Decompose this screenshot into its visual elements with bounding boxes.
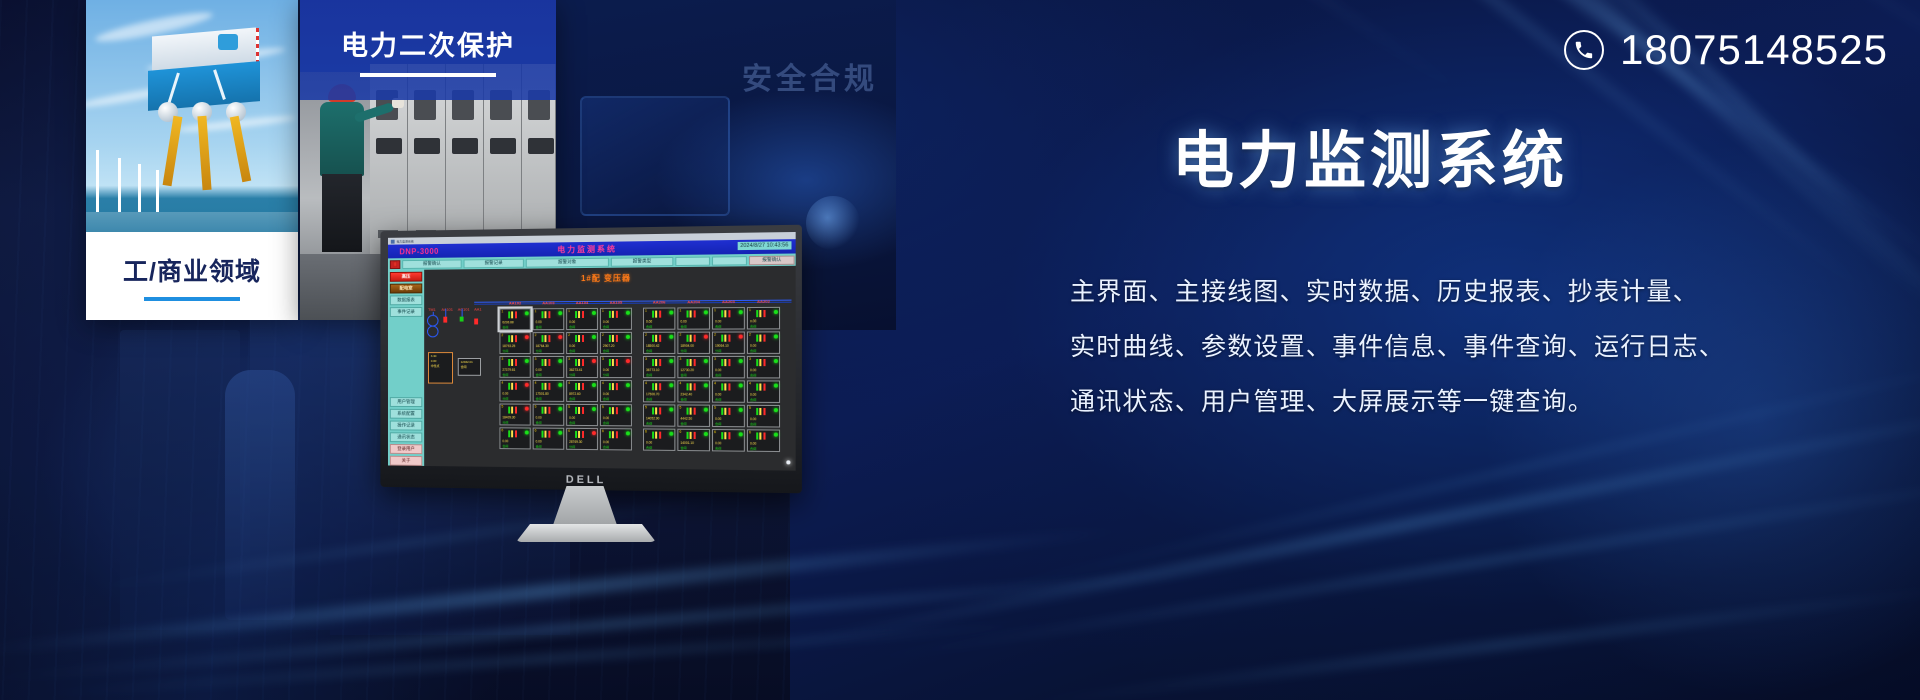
cell-index: 5 <box>679 405 681 409</box>
toolbar-item-1[interactable]: 报警记录 <box>464 258 524 268</box>
feeder-cell[interactable]: 30.00合闸 <box>533 356 565 378</box>
feeder-cell[interactable]: 20.00合闸 <box>566 332 598 354</box>
cell-index: 4 <box>535 381 537 385</box>
cell-phase-bars <box>687 408 696 415</box>
worker-figure <box>314 84 370 254</box>
cell-state-label: 合闸 <box>750 422 756 426</box>
cell-status-dot <box>773 383 777 387</box>
plate-lamp <box>806 196 860 250</box>
cell-index: 5 <box>749 406 751 410</box>
offshore-platform-structure <box>144 28 264 148</box>
feeder-cell[interactable]: 219064.10分闸 <box>712 332 745 354</box>
sub-panel-meter[interactable]: 6.30 0.00 中性点 <box>428 352 453 384</box>
feeder-cell-grid[interactable]: AA102 AA103 AA104 AA105 AA206 AA204 AA20… <box>499 307 794 471</box>
cell-value: 0.00 <box>536 440 542 444</box>
feeder-cell[interactable]: 218793.25分闸 <box>499 332 530 354</box>
feeder-cell[interactable]: 48972.60合闸 <box>566 380 598 402</box>
cell-state-label: 合闸 <box>536 420 542 424</box>
cell-index: 5 <box>535 405 537 409</box>
cell-status-dot <box>558 406 562 410</box>
cell-phase-bars <box>756 383 765 390</box>
feeder-cell[interactable]: 614001.10合闸 <box>677 429 710 452</box>
cell-phase-bars <box>721 408 730 415</box>
cell-state-label: 分闸 <box>502 420 508 424</box>
cell-phase-bars <box>542 407 551 414</box>
cell-index: 2 <box>645 333 647 337</box>
alarm-indicator-button[interactable] <box>390 260 400 269</box>
cell-row: 327379.61合闸30.00合闸336273.41分闸30.00分闸3367… <box>499 356 794 379</box>
cell-row: 40.00分闸417501.80合闸48972.60合闸40.00合闸41750… <box>499 380 794 403</box>
sidebar-item-about[interactable]: 关于 <box>390 456 422 466</box>
phone-contact[interactable]: 18075148525 <box>1564 26 1888 74</box>
feeder-cell[interactable]: 327379.61合闸 <box>499 356 530 378</box>
cell-status-dot <box>738 432 742 436</box>
cell-row: 16236.88合闸10.00合闸10.00合闸10.00合闸10.00合闸10… <box>499 307 794 331</box>
cell-state-label: 分闸 <box>502 396 508 400</box>
cell-state-label: 合闸 <box>680 445 686 449</box>
cell-status-dot <box>773 309 777 313</box>
cell-status-dot <box>558 311 562 315</box>
feeder-cell[interactable]: 40.00合闸 <box>747 380 780 403</box>
cell-phase-bars <box>687 432 696 439</box>
feeder-cell[interactable]: 628769.30分闸 <box>566 428 598 450</box>
feeder-cell[interactable]: 10.00合闸 <box>712 307 745 330</box>
cell-status-dot <box>669 431 673 435</box>
cell-index: 1 <box>568 309 570 313</box>
sidebar-item-login[interactable]: 登录用户 <box>390 444 422 454</box>
cell-value: 0.00 <box>750 442 756 446</box>
cell-status-dot <box>558 335 562 339</box>
cell-status-dot <box>591 431 595 435</box>
cell-state-label: 合闸 <box>680 324 686 328</box>
feeder-cell[interactable]: 10.00合闸 <box>600 308 632 330</box>
caption-secondary-protection: 电力二次保护 <box>300 0 556 100</box>
caption-label: 工/商业领域 <box>123 252 261 288</box>
cell-value: 0.00 <box>603 440 609 444</box>
right-content-column: 18075148525 电力监测系统 主界面、主接线图、实时数据、历史报表、抄表… <box>1060 0 1920 700</box>
cell-value: 0.00 <box>603 368 609 372</box>
cell-state-label: 分闸 <box>536 349 542 353</box>
feeder-cell[interactable]: 40.00合闸 <box>712 380 745 402</box>
cell-state-label: 合闸 <box>536 396 542 400</box>
cell-index: 1 <box>749 308 751 312</box>
feeder-cell[interactable]: 40.00分闸 <box>499 380 530 402</box>
cell-state-label: 合闸 <box>646 397 652 401</box>
cell-value: 6236.88 <box>502 320 513 324</box>
cell-value: 0.00 <box>502 392 508 396</box>
cell-column-headers: AA102 AA103 AA104 AA105 AA206 AA204 AA20… <box>499 299 780 306</box>
scada-diagram-area[interactable]: 1#配 变压器 TM1 AA101 AC101 AA1 <box>424 266 795 471</box>
cell-index: 4 <box>645 381 647 385</box>
description-line-3: 通讯状态、用户管理、大屏展示等一键查询。 <box>1070 375 1890 430</box>
cell-status-dot <box>558 430 562 434</box>
sidebar-item-comm[interactable]: 通讯状态 <box>390 432 422 442</box>
cell-phase-bars <box>652 311 661 318</box>
feeder-cell[interactable]: 336273.41分闸 <box>566 356 598 378</box>
cell-value: 18793.25 <box>502 344 515 348</box>
sidebar-item-reports[interactable]: 数据报表 <box>390 295 422 305</box>
cell-index: 4 <box>602 381 604 385</box>
cell-status-dot <box>591 358 595 362</box>
feeder-cell[interactable]: 218764.30分闸 <box>533 332 565 354</box>
cell-status-dot <box>591 310 595 314</box>
cell-value: 0.00 <box>715 319 721 323</box>
cell-index: 1 <box>714 308 716 312</box>
toolbar-spacer-b[interactable] <box>712 256 747 266</box>
cell-phase-bars <box>756 334 765 341</box>
cell-value: 18904.00 <box>680 344 694 348</box>
cell-phase-bars <box>687 359 696 366</box>
feeder-cell[interactable]: 60.00合闸 <box>643 428 675 450</box>
cell-status-dot <box>669 334 673 338</box>
cell-status-dot <box>773 334 777 338</box>
feeder-cell[interactable]: 30.00合闸 <box>747 356 780 378</box>
cell-state-label: 合闸 <box>502 372 508 376</box>
cell-status-dot <box>738 334 742 338</box>
feeder-cell[interactable]: 60.00合闸 <box>533 428 565 450</box>
cell-value: 8972.60 <box>569 392 580 396</box>
cell-state-label: 合闸 <box>536 372 542 376</box>
cell-status-dot <box>703 310 707 314</box>
cell-phase-bars <box>575 407 584 414</box>
cell-group-gap <box>634 380 641 402</box>
cell-value: 0.00 <box>750 417 756 421</box>
feeder-cell[interactable]: 42342.40合闸 <box>677 380 710 402</box>
cell-value: 0.00 <box>715 368 721 372</box>
cell-index: 3 <box>714 357 716 361</box>
scada-body: 高压 配电室 数据报表 事件记录 用户管理 系统配置 操作记录 通讯状态 登录用… <box>388 266 796 471</box>
cell-status-dot <box>524 406 528 410</box>
sidebar-item-users[interactable]: 用户管理 <box>390 397 422 407</box>
feeder-cell[interactable]: 218904.00分闸 <box>677 332 710 354</box>
cell-index: 6 <box>568 429 570 433</box>
cell-phase-bars <box>721 383 730 390</box>
sidebar-item-config[interactable]: 系统配置 <box>390 409 422 419</box>
sub-panel-label: 中性点 <box>431 364 450 368</box>
cell-state-label: 合闸 <box>569 396 575 400</box>
transformer-winding-d <box>427 326 439 338</box>
description-line-2: 实时曲线、参数设置、事件信息、事件查询、运行日志、 <box>1070 320 1890 375</box>
sidebar-item-oplog[interactable]: 操作记录 <box>390 421 422 431</box>
feeder-cell[interactable]: 10.00合闸 <box>533 308 565 330</box>
sidebar-item-substation[interactable]: 配电室 <box>390 283 422 293</box>
toolbar-item-2[interactable]: 报警对象 <box>526 257 609 267</box>
cell-value: 0.00 <box>750 344 756 348</box>
cell-phase-bars <box>508 407 517 414</box>
cell-status-dot <box>669 310 673 314</box>
scada-sidebar: 高压 配电室 数据报表 事件记录 用户管理 系统配置 操作记录 通讯状态 登录用… <box>388 270 424 466</box>
cell-row: 60.00合闸60.00合闸628769.30分闸60.00合闸60.00合闸6… <box>499 427 794 452</box>
cell-phase-bars <box>609 431 618 438</box>
feeder-cell[interactable]: 10.00合闸 <box>643 307 675 329</box>
cell-phase-bars <box>609 311 618 318</box>
hv-label-1: AA101 <box>441 307 453 312</box>
cell-state-label: 合闸 <box>715 373 721 377</box>
cell-state-label: 合闸 <box>603 324 609 328</box>
cell-phase-bars <box>508 335 517 342</box>
hv-label-3: AA1 <box>474 307 481 312</box>
cell-value: 0.00 <box>536 416 542 420</box>
cell-status-dot <box>558 382 562 386</box>
cell-status-dot <box>625 358 629 362</box>
monitor-bezel: 电力监测系统 DNP-3000 电力监测系统 2024/8/27 10:43:5… <box>380 225 802 494</box>
feeder-cell[interactable]: 60.00合闸 <box>712 429 745 452</box>
feeder-cell[interactable]: 336773.10合闸 <box>643 356 675 378</box>
cell-state-label: 合闸 <box>715 421 721 425</box>
cell-phase-bars <box>652 407 661 414</box>
cell-state-label: 合闸 <box>750 446 756 450</box>
cell-index: 5 <box>568 405 570 409</box>
cell-phase-bars <box>575 359 584 366</box>
cell-status-dot <box>524 382 528 386</box>
feeder-cell[interactable]: 16236.88合闸 <box>499 308 530 330</box>
feeder-cell[interactable]: 518409.30分闸 <box>499 404 530 426</box>
feeder-cell[interactable]: 417506.70合闸 <box>643 380 675 402</box>
cell-index: 3 <box>679 357 681 361</box>
cell-value: 14052.90 <box>646 416 659 420</box>
cell-state-label: 合闸 <box>603 445 609 449</box>
cell-row: 218793.25分闸218764.30分闸20.00合闸22907.20合闸2… <box>499 331 794 354</box>
hv-label-2: AC101 <box>458 307 470 312</box>
cell-value: 0.00 <box>750 368 756 372</box>
cell-status-dot <box>625 431 629 435</box>
feeder-cell[interactable]: 30.00分闸 <box>600 356 632 378</box>
cell-phase-bars <box>652 383 661 390</box>
cell-index: 6 <box>714 430 716 434</box>
sidebar-item-events[interactable]: 事件记录 <box>390 307 422 317</box>
cell-status-dot <box>703 383 707 387</box>
cell-value: 0.00 <box>646 441 652 445</box>
feeder-cell[interactable]: 417501.80合闸 <box>533 380 565 402</box>
cell-status-dot <box>738 407 742 411</box>
cell-status-dot <box>738 310 742 314</box>
bg-rack-2 <box>250 300 340 630</box>
cell-value: 36273.41 <box>569 368 582 372</box>
cell-phase-bars <box>721 310 730 317</box>
cell-value: 12730.20 <box>680 368 694 372</box>
cell-phase-bars <box>721 432 730 439</box>
cell-state-label: 合闸 <box>715 397 721 401</box>
plate-frame <box>580 96 730 216</box>
cell-phase-bars <box>756 359 765 366</box>
cell-status-dot <box>669 383 673 387</box>
feeder-cell[interactable]: 50.00合闸 <box>712 405 745 428</box>
cell-state-label: 合闸 <box>750 397 756 401</box>
cell-value: 18764.30 <box>536 344 549 348</box>
cell-status-dot <box>591 383 595 387</box>
cell-state-label: 合闸 <box>680 421 686 425</box>
cell-value: 2907.20 <box>603 344 615 348</box>
cell-state-label: 合闸 <box>536 444 542 448</box>
feeder-cell[interactable]: 50.00合闸 <box>600 404 632 426</box>
cell-index: 3 <box>568 357 570 361</box>
cell-index: 5 <box>645 405 647 409</box>
bg-person-silhouette <box>225 370 295 620</box>
cell-phase-bars <box>508 430 517 437</box>
feeder-cell[interactable]: 514052.90合闸 <box>643 404 675 426</box>
caption-industrial-commercial: 工/商业领域 <box>86 232 298 320</box>
caption-underline <box>144 297 240 301</box>
cell-group-gap <box>634 332 641 354</box>
cell-state-label: 合闸 <box>715 324 721 328</box>
cell-value: 0.00 <box>536 320 542 324</box>
cell-state-label: 合闸 <box>603 348 609 352</box>
monitor: 电力监测系统 DNP-3000 电力监测系统 2024/8/27 10:43:5… <box>374 228 798 548</box>
cell-state-label: 合闸 <box>680 397 686 401</box>
banner-root: 安全合规 工/商业领域 <box>0 0 1920 700</box>
sidebar-item-hv[interactable]: 高压 <box>390 272 422 282</box>
cell-status-dot <box>625 407 629 411</box>
breaker-closed <box>460 317 464 322</box>
feeder-cell[interactable]: 60.00合闸 <box>499 427 530 449</box>
feeder-cell[interactable]: 50.00合闸 <box>566 404 598 426</box>
toolbar-spacer-a[interactable] <box>675 256 710 266</box>
caption-label: 电力二次保护 <box>341 24 515 63</box>
cell-phase-bars <box>687 383 696 390</box>
feeder-cell[interactable]: 218500.42合闸 <box>643 332 675 354</box>
cell-status-dot <box>773 408 777 412</box>
cell-row: 518409.30分闸50.00合闸50.00合闸50.00合闸514052.9… <box>499 404 794 428</box>
cell-index: 2 <box>535 333 537 337</box>
cell-state-label: 合闸 <box>569 420 575 424</box>
cell-index: 3 <box>501 357 503 361</box>
breaker-open <box>474 319 478 325</box>
cell-state-label: 分闸 <box>680 348 686 352</box>
cell-phase-bars <box>609 383 618 390</box>
cell-value: 0.00 <box>715 417 721 421</box>
feeder-cell[interactable]: 60.00合闸 <box>600 428 632 450</box>
window-title: 电力监测系统 <box>397 239 414 243</box>
scada-screen[interactable]: 电力监测系统 DNP-3000 电力监测系统 2024/8/27 10:43:5… <box>388 232 796 471</box>
cell-phase-bars <box>542 335 551 342</box>
power-led <box>786 460 790 464</box>
feature-description: 主界面、主接线图、实时数据、历史报表、抄表计量、 实时曲线、参数设置、事件信息、… <box>1070 265 1890 430</box>
cell-status-dot <box>524 311 528 315</box>
cell-status-dot <box>669 358 673 362</box>
cell-state-label: 合闸 <box>502 325 508 329</box>
cell-index: 4 <box>714 381 716 385</box>
feeder-cell[interactable]: 10.00合闸 <box>747 307 780 330</box>
cell-value: 0.00 <box>569 320 575 324</box>
hv-incoming-section: TM1 AA101 AC101 AA1 <box>426 307 482 426</box>
feeder-cell[interactable]: 312730.20合闸 <box>677 356 710 378</box>
cell-value: 28769.30 <box>569 440 582 444</box>
cell-index: 2 <box>714 333 716 337</box>
cell-index: 5 <box>602 405 604 409</box>
cell-state-label: 合闸 <box>750 373 756 377</box>
cell-status-dot <box>703 431 707 435</box>
cell-index: 2 <box>501 333 503 337</box>
cell-index: 6 <box>602 429 604 433</box>
cell-value: 2342.40 <box>680 392 692 396</box>
sub-panel-meter-2[interactable]: 12942.01 合闸 <box>458 358 481 376</box>
scada-clock: 2024/8/27 10:43:56 <box>737 241 791 250</box>
feeder-cell[interactable]: 10.00合闸 <box>677 307 710 329</box>
cell-index: 1 <box>645 309 647 313</box>
feeder-cell[interactable]: 30.00合闸 <box>712 356 745 378</box>
phone-number[interactable]: 18075148525 <box>1620 26 1888 74</box>
cell-value: 0.00 <box>536 368 542 372</box>
cell-index: 1 <box>602 309 604 313</box>
cell-state-label: 合闸 <box>680 373 686 377</box>
description-line-1: 主界面、主接线图、实时数据、历史报表、抄表计量、 <box>1070 265 1890 320</box>
feeder-cell[interactable]: 54442.50合闸 <box>677 404 710 426</box>
cell-status-dot <box>524 359 528 363</box>
cell-status-dot <box>524 430 528 434</box>
cell-phase-bars <box>756 310 765 317</box>
cell-index: 6 <box>679 430 681 434</box>
cell-state-label: 合闸 <box>646 445 652 449</box>
breaker-open <box>443 317 447 323</box>
column-header: AA104 <box>566 300 598 305</box>
cell-value: 0.00 <box>603 416 609 420</box>
cell-index: 2 <box>568 333 570 337</box>
cell-status-dot <box>738 383 742 387</box>
cell-phase-bars <box>721 359 730 366</box>
cell-status-dot <box>591 407 595 411</box>
cell-index: 3 <box>602 357 604 361</box>
toolbar-item-0[interactable]: 报警确认 <box>402 259 461 269</box>
cell-status-dot <box>703 334 707 338</box>
feeder-cell[interactable]: 60.00合闸 <box>747 429 780 452</box>
cell-phase-bars <box>687 335 696 342</box>
cell-value: 0.00 <box>569 344 575 348</box>
toolbar-item-3[interactable]: 报警类型 <box>611 256 673 266</box>
monitor-stand-base <box>516 524 656 542</box>
sub-panel-label: 12942.01 <box>461 360 478 364</box>
toolbar-item-4[interactable]: 报警确认 <box>749 255 795 265</box>
cell-state-label: 合闸 <box>569 349 575 353</box>
phone-circle-icon <box>1564 30 1604 70</box>
cell-state-label: 合闸 <box>603 397 609 401</box>
cell-status-dot <box>625 334 629 338</box>
cell-state-label: 合闸 <box>536 325 542 329</box>
cell-index: 4 <box>568 381 570 385</box>
feeder-cell[interactable]: 50.00合闸 <box>533 404 565 426</box>
cell-state-label: 合闸 <box>502 444 508 448</box>
cell-phase-bars <box>575 311 584 318</box>
diagram-title: 1#配 变压器 <box>424 271 795 286</box>
cell-value: 18409.30 <box>502 415 515 419</box>
cell-index: 2 <box>679 333 681 337</box>
cell-phase-bars <box>542 383 551 390</box>
window-icon <box>391 239 395 243</box>
cell-status-dot <box>591 334 595 338</box>
feeder-cell[interactable]: 40.00合闸 <box>600 380 632 402</box>
column-header: AA105 <box>600 300 632 305</box>
cell-state-label: 合闸 <box>715 446 721 450</box>
cell-state-label: 合闸 <box>646 348 652 352</box>
caption-underline <box>360 73 496 77</box>
cell-value: 0.00 <box>715 441 721 445</box>
cell-value: 0.00 <box>750 393 756 397</box>
cell-status-dot <box>558 359 562 363</box>
cell-phase-bars <box>542 359 551 366</box>
feeder-cell[interactable]: 20.00合闸 <box>747 331 780 354</box>
cell-value: 19064.10 <box>715 344 729 348</box>
cell-value: 0.00 <box>750 319 756 323</box>
cell-index: 4 <box>501 381 503 385</box>
feeder-cell[interactable]: 10.00合闸 <box>566 308 598 330</box>
cell-value: 18500.42 <box>646 344 659 348</box>
cell-index: 2 <box>602 333 604 337</box>
cell-value: 0.00 <box>715 392 721 396</box>
cell-status-dot <box>524 335 528 339</box>
feeder-cell[interactable]: 50.00合闸 <box>747 405 780 428</box>
cell-phase-bars <box>508 359 517 366</box>
feeder-cell[interactable]: 22907.20合闸 <box>600 332 632 354</box>
cell-index: 3 <box>749 357 751 361</box>
